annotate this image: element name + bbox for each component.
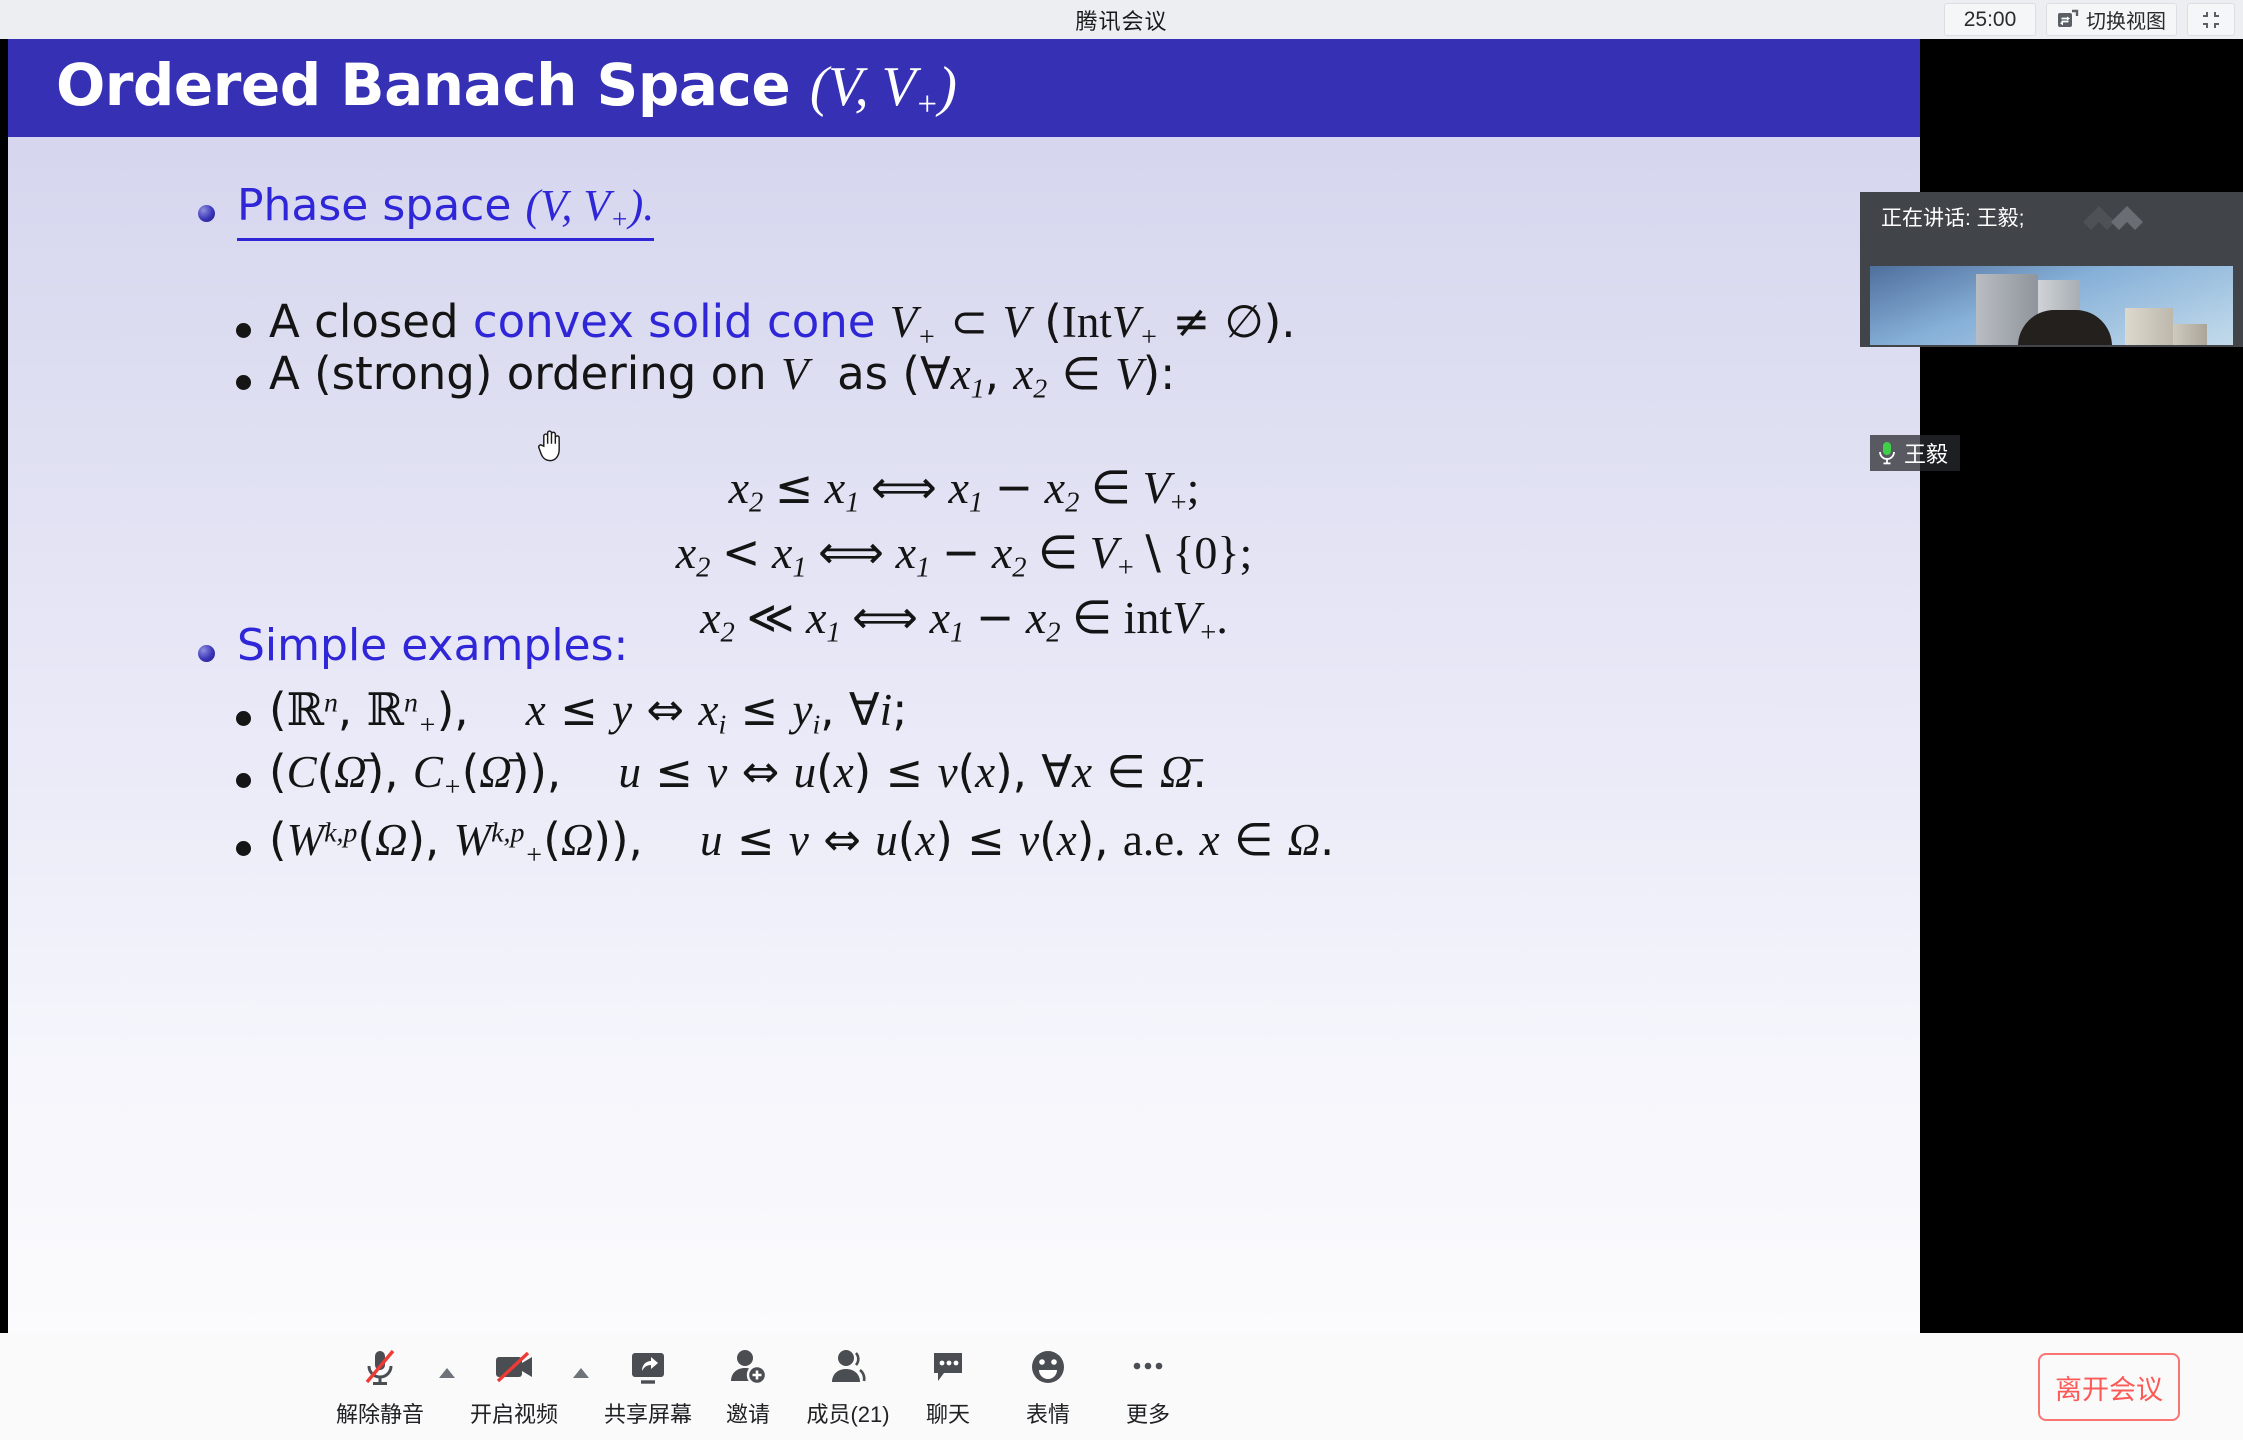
example-item-sobolev-label: (Wk,p(Ω), Wk,p+(Ω)), u ≤ v ⇔ u(x) ≤ v(x)… (269, 815, 1334, 871)
example-item-rn: (ℝn, ℝn+), x ≤ y ⇔ xi ≤ yi, ∀i; (236, 685, 907, 741)
slide-title: Ordered Banach Space (V, V+) (8, 51, 956, 124)
leave-meeting-label: 离开会议 (2055, 1368, 2163, 1407)
audio-options-caret[interactable] (430, 1345, 464, 1401)
speaker-panel-header: 正在讲话: 王毅; (1860, 192, 2243, 242)
example-item-c-omega: (C(Ω̄), C+(Ω̄)), u ≤ v ⇔ u(x) ≤ v(x), ∀x… (236, 747, 1207, 803)
wechat-logo-icon (2077, 200, 2167, 234)
example-item-rn-label: (ℝn, ℝn+), x ≤ y ⇔ xi ≤ yi, ∀i; (269, 685, 907, 741)
unmute-label: 解除静音 (336, 1397, 424, 1429)
video-frame (1870, 266, 2233, 345)
bullet-strong-ordering-label: A (strong) ordering on V as (∀x1, x2 ∈ V… (269, 349, 1175, 405)
participant-name-badge: 王毅 (1870, 435, 1960, 471)
video-building (2173, 324, 2207, 345)
invite-button[interactable]: 邀请 (698, 1339, 798, 1429)
bullet-phase-space-label: Phase space (V, V+). (237, 183, 654, 241)
window-title-bar: 腾讯会议 25:00 切换视图 (0, 0, 2243, 39)
start-video-button[interactable]: 开启视频 (464, 1339, 564, 1429)
video-options-caret[interactable] (564, 1345, 598, 1401)
bullet-closed-convex-cone: A closed convex solid cone V+ ⊂ V (IntV+… (236, 297, 1296, 353)
chat-button[interactable]: 聊天 (898, 1339, 998, 1429)
emoji-button[interactable]: 表情 (998, 1339, 1098, 1429)
members-label: 成员(21) (806, 1397, 889, 1429)
members-icon (826, 1339, 870, 1395)
toolbar-items: 解除静音 开启视频 (330, 1339, 1198, 1429)
exit-fullscreen-icon (2200, 9, 2222, 31)
bullet-simple-examples-label: Simple examples: (237, 623, 628, 669)
mic-active-icon (1876, 440, 1898, 466)
bullet-phase-space: Phase space (V, V+). (198, 183, 654, 241)
bullet-dot-icon (236, 711, 251, 726)
video-off-icon (490, 1339, 538, 1395)
mic-muted-icon (358, 1339, 402, 1395)
unmute-button[interactable]: 解除静音 (330, 1339, 430, 1429)
more-icon (1126, 1339, 1170, 1395)
invite-label: 邀请 (726, 1397, 770, 1429)
bullet-dot-icon (236, 841, 251, 856)
bullet-closed-convex-cone-label: A closed convex solid cone V+ ⊂ V (IntV+… (269, 297, 1296, 353)
bullet-dot-icon (198, 205, 215, 222)
app-title: 腾讯会议 (1075, 4, 1167, 36)
slide-title-math: (V, V+) (810, 56, 956, 118)
slide-title-text: Ordered Banach Space (56, 51, 790, 119)
members-button[interactable]: 成员(21) (798, 1339, 898, 1429)
exit-fullscreen-button[interactable] (2187, 3, 2235, 36)
chat-label: 聊天 (926, 1397, 970, 1429)
chat-icon (926, 1339, 970, 1395)
emoji-icon (1026, 1339, 1070, 1395)
meeting-window: 腾讯会议 25:00 切换视图 (0, 0, 2243, 1440)
meeting-timer: 25:00 (1944, 3, 2036, 36)
meeting-toolbar: 解除静音 开启视频 (0, 1333, 2243, 1440)
title-bar-controls: 25:00 切换视图 (1944, 0, 2235, 39)
example-item-sobolev: (Wk,p(Ω), Wk,p+(Ω)), u ≤ v ⇔ u(x) ≤ v(x)… (236, 815, 1334, 871)
more-button[interactable]: 更多 (1098, 1339, 1198, 1429)
participant-name: 王毅 (1904, 437, 1948, 469)
speaker-video-thumbnail[interactable] (1870, 266, 2233, 345)
switch-view-label: 切换视图 (2086, 5, 2166, 34)
bullet-dot-icon (236, 323, 251, 338)
bullet-dot-icon (236, 375, 251, 390)
shared-screen-slide[interactable]: Ordered Banach Space (V, V+) Phase space… (8, 39, 1920, 1333)
leave-meeting-button[interactable]: 离开会议 (2038, 1353, 2180, 1421)
slide-title-bar: Ordered Banach Space (V, V+) (8, 39, 1920, 137)
emoji-label: 表情 (1026, 1397, 1070, 1429)
slide-body: Phase space (V, V+). A closed convex sol… (8, 137, 1920, 1333)
bullet-strong-ordering: A (strong) ordering on V as (∀x1, x2 ∈ V… (236, 349, 1175, 405)
share-screen-label: 共享屏幕 (604, 1397, 692, 1429)
share-screen-icon (626, 1339, 670, 1395)
video-building (2125, 308, 2173, 345)
bullet-dot-icon (198, 645, 215, 662)
switch-view-button[interactable]: 切换视图 (2046, 3, 2177, 36)
equation-line-1: x2 ≤ x1 ⟺ x1 − x2 ∈ V+; (8, 457, 1920, 522)
share-screen-button[interactable]: 共享屏幕 (598, 1339, 698, 1429)
more-label: 更多 (1126, 1397, 1170, 1429)
bullet-dot-icon (236, 773, 251, 788)
equation-line-2: x2 < x1 ⟺ x1 − x2 ∈ V+ \ {0}; (8, 522, 1920, 587)
invite-icon (726, 1339, 770, 1395)
switch-view-icon (2057, 9, 2079, 31)
example-item-c-omega-label: (C(Ω̄), C+(Ω̄)), u ≤ v ⇔ u(x) ≤ v(x), ∀x… (269, 747, 1207, 803)
meeting-timer-value: 25:00 (1964, 8, 2017, 32)
speaking-now-label: 正在讲话: 王毅; (1860, 202, 2025, 232)
start-video-label: 开启视频 (470, 1397, 558, 1429)
bullet-simple-examples: Simple examples: (198, 623, 628, 669)
